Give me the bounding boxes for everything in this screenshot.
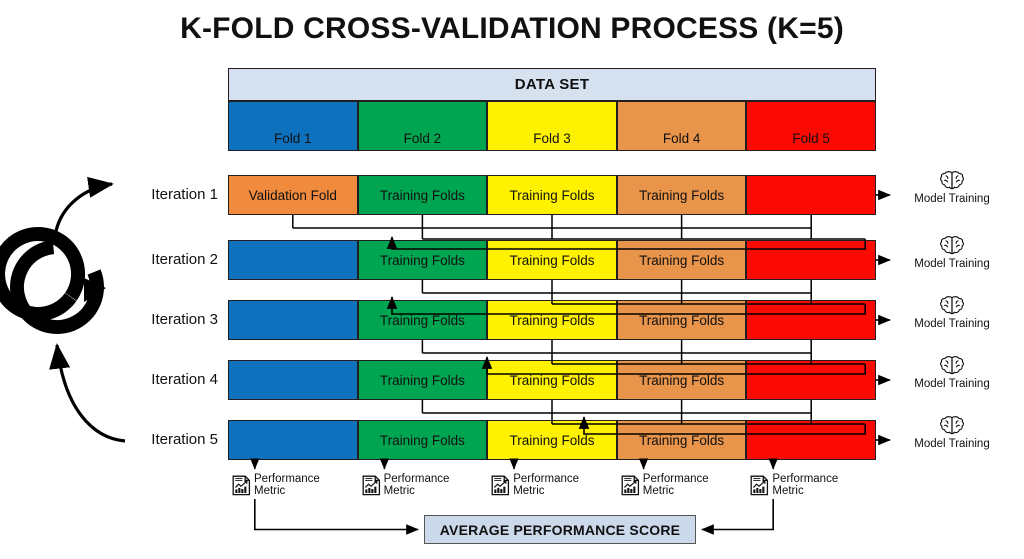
model-training-label: Model Training: [914, 378, 989, 390]
iteration-1-cell-2-training: Training Folds: [358, 175, 488, 215]
performance-metric-label-line1: Performance: [513, 473, 579, 485]
circular-loop-arrow-icon: [0, 184, 125, 441]
iteration-3-cell-3-training: Training Folds: [487, 300, 617, 340]
iteration-label-4: Iteration 4: [126, 371, 218, 388]
brain-icon: [939, 170, 965, 192]
brain-icon: [939, 295, 965, 317]
iteration-2-cell-1-training: [228, 240, 358, 280]
performance-metric-3: PerformanceMetric: [491, 473, 579, 497]
dataset-header: DATA SET: [228, 68, 876, 101]
model-training-label: Model Training: [914, 318, 989, 330]
iteration-2-cell-2-training: Training Folds: [358, 240, 488, 280]
performance-metric-1: PerformanceMetric: [232, 473, 320, 497]
iteration-4-cell-1-training: [228, 360, 358, 400]
iteration-label-1: Iteration 1: [126, 186, 218, 203]
model-training-label: Model Training: [914, 258, 989, 270]
dataset-fold-3: Fold 3: [487, 101, 617, 151]
performance-metric-label-line1: Performance: [254, 473, 320, 485]
iteration-4-cell-3-training: Training Folds: [487, 360, 617, 400]
iteration-label-2: Iteration 2: [126, 251, 218, 268]
chart-document-icon: [362, 475, 381, 496]
performance-metric-label-line2: Metric: [513, 485, 544, 497]
dataset-fold-1: Fold 1: [228, 101, 358, 151]
iteration-3-cell-5-training: [746, 300, 876, 340]
iteration-1-cell-3-training: Training Folds: [487, 175, 617, 215]
dataset-fold-4: Fold 4: [617, 101, 747, 151]
iteration-5-cell-2-training: Training Folds: [358, 420, 488, 460]
iteration-5-cell-4-training: Training Folds: [617, 420, 747, 460]
model-training-5: Model Training: [900, 415, 1004, 450]
iteration-3-cell-1-training: [228, 300, 358, 340]
model-training-1: Model Training: [900, 170, 1004, 205]
average-performance-score-box: AVERAGE PERFORMANCE SCORE: [424, 515, 696, 544]
brain-icon: [939, 415, 965, 437]
model-training-label: Model Training: [914, 438, 989, 450]
brain-icon: [939, 355, 965, 377]
iteration-2-cell-4-training: Training Folds: [617, 240, 747, 280]
performance-metric-label-line2: Metric: [254, 485, 285, 497]
iteration-1-cell-1-validation: Validation Fold: [228, 175, 358, 215]
chart-document-icon: [491, 475, 510, 496]
performance-metric-label-line1: Performance: [772, 473, 838, 485]
diagram-canvas: K-FOLD CROSS-VALIDATION PROCESS (K=5) DA…: [0, 0, 1024, 559]
performance-metric-2: PerformanceMetric: [362, 473, 450, 497]
performance-metric-label-line2: Metric: [772, 485, 803, 497]
dataset-fold-5: Fold 5: [746, 101, 876, 151]
chart-document-icon: [750, 475, 769, 496]
iteration-5-cell-3-training: Training Folds: [487, 420, 617, 460]
iteration-label-3: Iteration 3: [126, 311, 218, 328]
model-training-3: Model Training: [900, 295, 1004, 330]
iteration-3-cell-4-training: Training Folds: [617, 300, 747, 340]
iteration-2-cell-3-training: Training Folds: [487, 240, 617, 280]
chart-document-icon: [232, 475, 251, 496]
performance-metric-label-line1: Performance: [384, 473, 450, 485]
dataset-fold-2: Fold 2: [358, 101, 488, 151]
iteration-1-cell-5-training: [746, 175, 876, 215]
page-title: K-FOLD CROSS-VALIDATION PROCESS (K=5): [0, 12, 1024, 46]
iteration-5-cell-5-training: [746, 420, 876, 460]
performance-metric-4: PerformanceMetric: [621, 473, 709, 497]
model-training-2: Model Training: [900, 235, 1004, 270]
model-training-label: Model Training: [914, 193, 989, 205]
model-training-4: Model Training: [900, 355, 1004, 390]
performance-metric-label-line2: Metric: [643, 485, 674, 497]
brain-icon: [939, 235, 965, 257]
iteration-1-cell-4-training: Training Folds: [617, 175, 747, 215]
performance-metric-label-line1: Performance: [643, 473, 709, 485]
performance-metric-label-line2: Metric: [384, 485, 415, 497]
iteration-2-cell-5-training: [746, 240, 876, 280]
iteration-4-cell-2-training: Training Folds: [358, 360, 488, 400]
iteration-4-cell-4-training: Training Folds: [617, 360, 747, 400]
iteration-label-5: Iteration 5: [126, 431, 218, 448]
chart-document-icon: [621, 475, 640, 496]
iteration-3-cell-2-training: Training Folds: [358, 300, 488, 340]
iteration-4-cell-5-training: [746, 360, 876, 400]
iteration-5-cell-1-training: [228, 420, 358, 460]
performance-metric-5: PerformanceMetric: [750, 473, 838, 497]
